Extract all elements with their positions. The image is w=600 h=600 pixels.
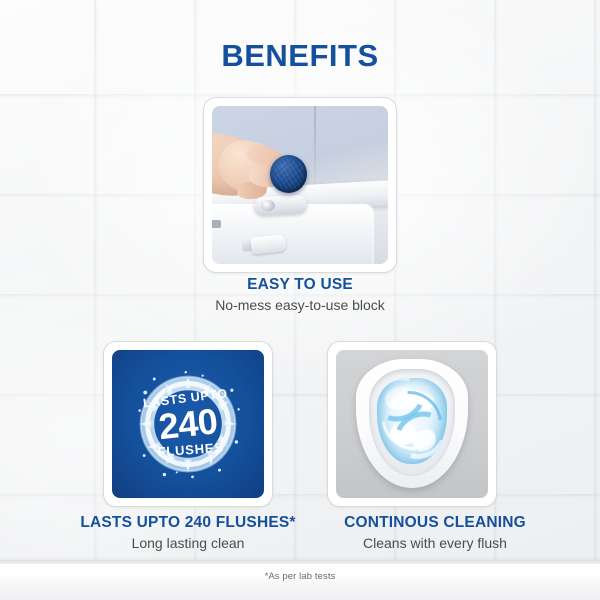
benefit-card-lasts-240-flushes: LASTS UPTO 240 FLUSHES [103,341,273,507]
flush-lever [250,234,287,255]
benefit-card-continuous-cleaning [327,341,497,507]
benefit-heading-easy-to-use: EASY TO USE [180,275,420,294]
wall-seam [314,106,316,188]
toilet-bowl-water [377,378,447,464]
toilet-bowl-swirl-image [336,350,488,498]
benefit-heading-lasts-240-flushes: LASTS UPTO 240 FLUSHES* [40,513,336,532]
block-texture [273,158,305,190]
hand-dropping-block-image [212,106,388,264]
water-glow [377,378,447,464]
benefits-infographic-page: BENEFITS EASY TO USE No-mess easy-to-use… [0,0,600,600]
benefit-heading-continuous-cleaning: CONTINOUS CLEANING [312,513,558,532]
caption-continuous-cleaning: CONTINOUS CLEANING Cleans with every flu… [312,513,558,552]
benefit-subtext-easy-to-use: No-mess easy-to-use block [180,296,420,314]
water-splash-icon [130,368,246,480]
benefit-card-easy-to-use [203,97,397,273]
water-splash-badge-image: LASTS UPTO 240 FLUSHES [112,350,264,498]
footnote-lab-tests: *As per lab tests [0,571,600,582]
caption-lasts-240-flushes: LASTS UPTO 240 FLUSHES* Long lasting cle… [40,513,336,552]
cistern-notch [212,220,221,228]
benefit-subtext-lasts-240-flushes: Long lasting clean [40,534,336,552]
benefit-subtext-continuous-cleaning: Cleans with every flush [312,534,558,552]
page-title: BENEFITS [0,38,600,74]
caption-easy-to-use: EASY TO USE No-mess easy-to-use block [180,275,420,314]
